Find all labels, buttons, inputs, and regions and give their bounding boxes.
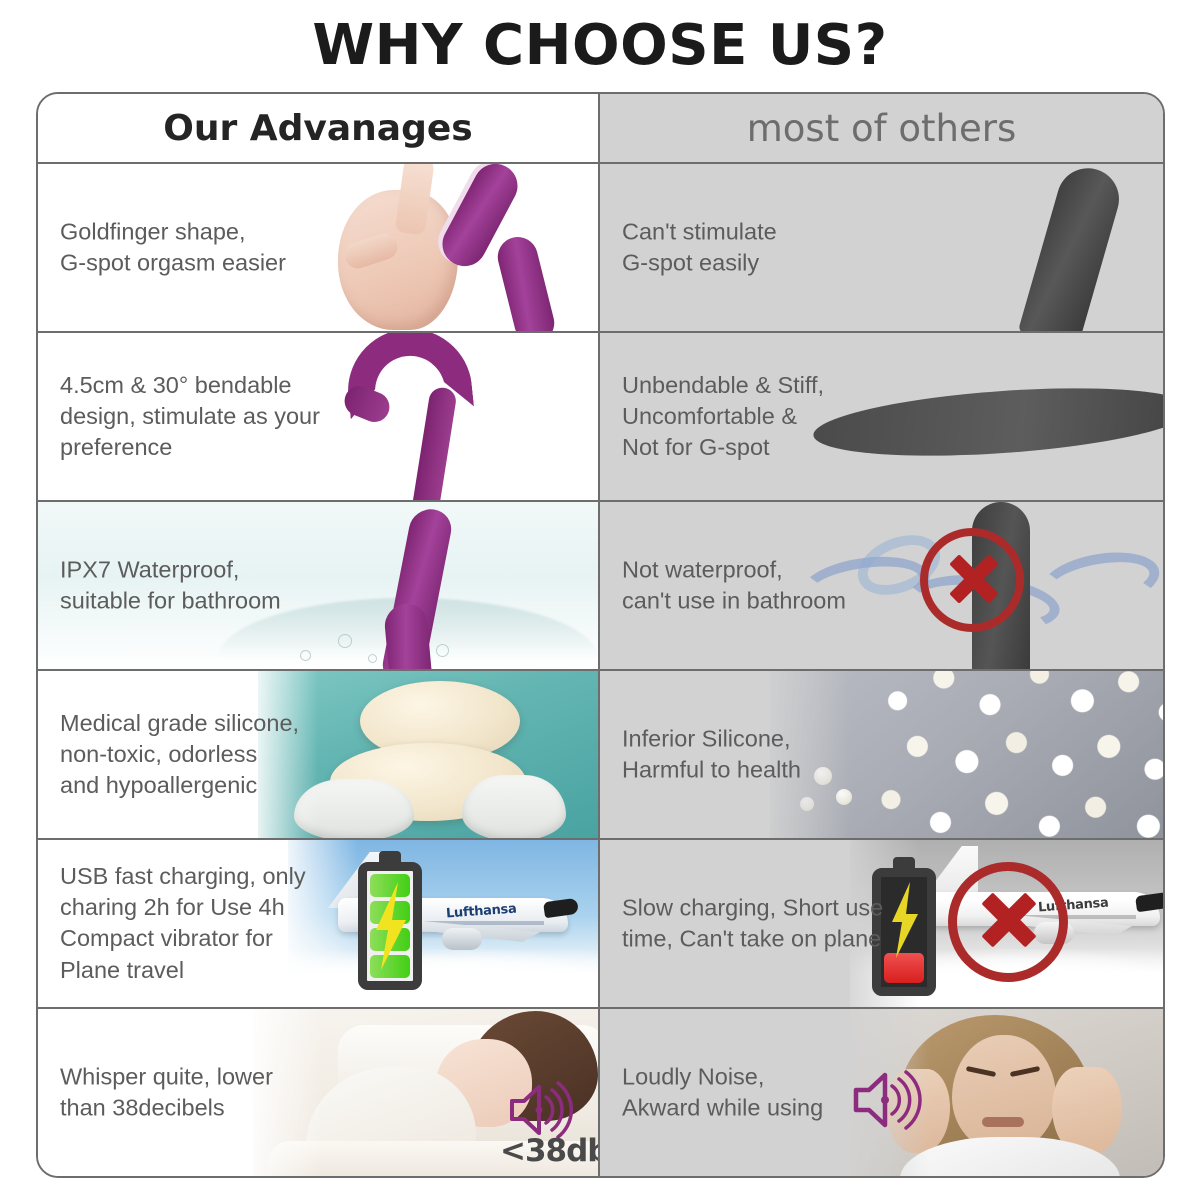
table-header-row: Our Advanages most of others bbox=[38, 94, 1163, 164]
comparison-infographic: WHY CHOOSE US? Our Advanages most of oth… bbox=[0, 0, 1200, 1200]
cell-text-others-bendable: Unbendable & Stiff, Uncomfortable & Not … bbox=[622, 369, 824, 463]
cell-text-ours-bendable: 4.5cm & 30° bendable design, stimulate a… bbox=[60, 369, 320, 463]
cell-ours-waterproof: IPX7 Waterproof, suitable for bathroom bbox=[38, 502, 600, 669]
cell-ours-bendable: 4.5cm & 30° bendable design, stimulate a… bbox=[38, 333, 600, 500]
cell-text-others-shape: Can't stimulate G-spot easily bbox=[622, 216, 777, 279]
speaker-volume-icon bbox=[506, 1081, 576, 1139]
cell-text-others-waterproof: Not waterproof, can't use in bathroom bbox=[622, 554, 846, 617]
bubble bbox=[368, 654, 377, 663]
column-header-others-label: most of others bbox=[600, 94, 1163, 162]
table-row-bendable: 4.5cm & 30° bendable design, stimulate a… bbox=[38, 333, 1163, 502]
battery-terminal bbox=[893, 857, 915, 869]
table-row-material: Medical grade silicone, non-toxic, odorl… bbox=[38, 671, 1163, 840]
cell-ours-shape: Goldfinger shape, G-spot orgasm easier bbox=[38, 164, 600, 331]
column-header-ours: Our Advanages bbox=[38, 94, 600, 162]
face bbox=[952, 1035, 1056, 1151]
column-header-others: most of others bbox=[600, 94, 1163, 162]
column-header-ours-label: Our Advanages bbox=[38, 94, 598, 162]
cell-text-others-battery: Slow charging, Short use time, Can't tak… bbox=[622, 892, 883, 955]
hand-illustration bbox=[338, 190, 458, 330]
cell-others-battery: Lufthansa bbox=[600, 840, 1163, 1007]
battery-terminal bbox=[379, 851, 401, 863]
cell-text-ours-shape: Goldfinger shape, G-spot orgasm easier bbox=[60, 216, 286, 279]
cell-others-waterproof: Not waterproof, can't use in bathroom bbox=[600, 502, 1163, 669]
table-row-battery: Lufthansa US bbox=[38, 840, 1163, 1009]
plane-nose bbox=[543, 898, 579, 919]
plane-nose bbox=[1135, 892, 1163, 913]
decibel-badge: <38db bbox=[500, 1133, 600, 1169]
gray-product-shape bbox=[1018, 164, 1127, 331]
cell-text-ours-waterproof: IPX7 Waterproof, suitable for bathroom bbox=[60, 554, 281, 617]
speaker-volume-icon bbox=[850, 1069, 924, 1131]
cell-text-ours-material: Medical grade silicone, non-toxic, odorl… bbox=[60, 707, 299, 801]
plane-engine bbox=[442, 928, 482, 950]
cell-text-ours-noise: Whisper quite, lower than 38decibels bbox=[60, 1061, 273, 1124]
table-row-shape: Goldfinger shape, G-spot orgasm easier C… bbox=[38, 164, 1163, 333]
mouth bbox=[982, 1117, 1024, 1127]
page-title: WHY CHOOSE US? bbox=[0, 14, 1200, 78]
cell-text-ours-battery: USB fast charging, only charing 2h for U… bbox=[60, 861, 306, 987]
index-finger-shape bbox=[395, 164, 436, 236]
comparison-table: Our Advanages most of others Goldfinger … bbox=[36, 92, 1165, 1178]
bubble bbox=[436, 644, 449, 657]
red-x-icon bbox=[946, 572, 1002, 586]
cell-others-shape: Can't stimulate G-spot easily bbox=[600, 164, 1163, 331]
hook-shape bbox=[328, 333, 478, 500]
battery-full-icon bbox=[358, 862, 422, 990]
purple-product-lower bbox=[494, 233, 559, 331]
cell-ours-battery: Lufthansa US bbox=[38, 840, 600, 1007]
gloved-hand-right bbox=[462, 775, 566, 838]
table-row-waterproof: IPX7 Waterproof, suitable for bathroom bbox=[38, 502, 1163, 671]
bubble bbox=[338, 634, 352, 648]
thumb-shape bbox=[341, 230, 400, 271]
bubble bbox=[300, 650, 311, 661]
cell-others-bendable: Unbendable & Stiff, Uncomfortable & Not … bbox=[600, 333, 1163, 500]
cell-text-others-noise: Loudly Noise, Akward while using bbox=[622, 1061, 823, 1124]
cell-ours-material: Medical grade silicone, non-toxic, odorl… bbox=[38, 671, 600, 838]
table-row-noise: <38db Whisper quite, lower than 38decibe… bbox=[38, 1009, 1163, 1176]
red-x-icon bbox=[978, 912, 1040, 928]
cell-others-material: Inferior Silicone, Harmful to health bbox=[600, 671, 1163, 838]
cell-others-noise: Loudly Noise, Akward while using bbox=[600, 1009, 1163, 1176]
pellet-pile bbox=[858, 671, 1163, 838]
cell-ours-noise: <38db Whisper quite, lower than 38decibe… bbox=[38, 1009, 600, 1176]
cell-text-others-material: Inferior Silicone, Harmful to health bbox=[622, 723, 801, 786]
gray-rigid-rod-shape bbox=[811, 378, 1163, 466]
